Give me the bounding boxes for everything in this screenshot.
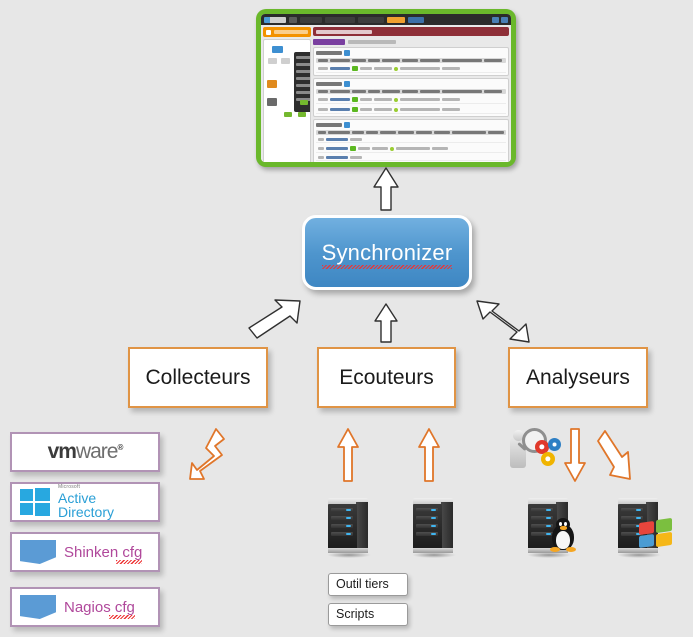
filter-label xyxy=(348,40,396,44)
dashboard-table-collecteur xyxy=(313,119,509,162)
arrow-analyseurs-sync xyxy=(474,298,532,344)
arrow-ecouteurs-push-2 xyxy=(416,427,442,483)
map-node xyxy=(300,100,308,105)
dashboard-panel-title xyxy=(313,27,509,36)
active-directory-text: Microsoft Active Directory xyxy=(58,485,150,519)
table-header-row xyxy=(316,58,506,63)
nagios-cfg-label-wrap: Nagios cfg xyxy=(64,599,135,616)
map-node xyxy=(272,46,283,53)
arrow-ecouteurs-to-sync xyxy=(372,303,400,343)
table-caption xyxy=(316,50,506,56)
table-header-row xyxy=(316,130,506,135)
table-caption xyxy=(316,81,506,87)
staging-label xyxy=(274,30,308,34)
topbar-item xyxy=(289,17,297,23)
server-rack-windows-icon xyxy=(615,498,661,558)
synchronizer-node[interactable]: Synchronizer xyxy=(302,215,472,290)
synchronizer-label: Synchronizer xyxy=(322,240,453,266)
server-rack-icon xyxy=(410,498,456,558)
map-node xyxy=(281,58,290,64)
server-rack-linux-icon xyxy=(525,498,571,558)
diagram-canvas: Synchronizer Collecteurs Ecouteurs Analy… xyxy=(0,0,693,637)
server-rack-icon xyxy=(325,498,371,558)
category-label-ecouteurs: Ecouteurs xyxy=(339,366,434,390)
source-box-vmware[interactable]: vmware® xyxy=(10,432,160,472)
topbar-icon xyxy=(501,17,508,23)
nagios-cfg-label: Nagios cfg xyxy=(64,599,135,616)
table-caption xyxy=(316,122,506,128)
topbar-item xyxy=(358,17,384,23)
active-directory-label: Active Directory xyxy=(58,491,150,519)
windows-flag-icon xyxy=(20,488,50,516)
dashboard-body xyxy=(261,25,511,162)
arrow-collecteurs-pull xyxy=(186,427,228,485)
dashboard-topbar xyxy=(261,14,511,25)
dashboard-table-ecouteur xyxy=(313,78,509,117)
topbar-item-highlight xyxy=(387,17,405,23)
table-header-row xyxy=(316,89,506,94)
config-file-icon xyxy=(20,540,56,564)
table-row xyxy=(316,65,506,73)
chip-scripts-label: Scripts xyxy=(336,607,374,621)
dashboard-staging-bar xyxy=(263,27,311,37)
chip-scripts[interactable]: Scripts xyxy=(328,603,408,626)
map-node xyxy=(267,98,277,106)
table-row xyxy=(316,137,506,143)
dashboard-topology-map xyxy=(263,39,311,162)
topbar-icon xyxy=(492,17,499,23)
arrow-ecouteurs-push-1 xyxy=(335,427,361,483)
category-label-collecteurs: Collecteurs xyxy=(145,366,250,390)
chip-outil-tiers[interactable]: Outil tiers xyxy=(328,573,408,596)
dashboard-filter-row xyxy=(313,38,509,45)
category-label-analyseurs: Analyseurs xyxy=(526,366,630,390)
gear-blue-icon xyxy=(548,438,561,451)
table-row xyxy=(316,96,506,104)
topbar-right-group xyxy=(492,17,508,23)
gear-yellow-icon xyxy=(541,452,555,466)
dashboard-left-column xyxy=(263,27,311,162)
spellcheck-underline xyxy=(109,615,135,619)
spellcheck-underline xyxy=(322,265,453,269)
windows-logo-icon xyxy=(639,518,673,548)
category-box-ecouteurs[interactable]: Ecouteurs xyxy=(317,347,456,408)
shinken-cfg-label-wrap: Shinken cfg xyxy=(64,544,142,561)
arrow-analyseurs-probe-2 xyxy=(596,427,636,483)
shinken-cfg-label: Shinken cfg xyxy=(64,544,142,561)
source-box-active-directory[interactable]: Microsoft Active Directory xyxy=(10,482,160,522)
map-node xyxy=(268,58,277,64)
vmware-prefix: vm xyxy=(48,440,76,463)
chip-outil-tiers-label: Outil tiers xyxy=(336,577,389,591)
table-row xyxy=(316,155,506,161)
vmware-logo-icon: vmware® xyxy=(48,440,123,464)
arrow-collecteurs-to-sync xyxy=(245,298,303,342)
map-node xyxy=(267,80,277,88)
topbar-item xyxy=(408,17,424,23)
dashboard-right-column xyxy=(313,27,509,162)
map-node xyxy=(298,112,306,117)
magnifier-gears-icon xyxy=(508,426,568,476)
source-box-shinken-cfg[interactable]: Shinken cfg xyxy=(10,532,160,572)
vmware-registered-mark: ® xyxy=(117,443,122,452)
source-box-nagios-cfg[interactable]: Nagios cfg xyxy=(10,587,160,627)
category-box-analyseurs[interactable]: Analyseurs xyxy=(508,347,648,408)
synchronizer-label-text: Synchronizer xyxy=(322,240,453,265)
config-file-icon xyxy=(20,595,56,619)
arrow-sync-to-dashboard xyxy=(371,167,401,211)
table-row xyxy=(316,106,506,114)
topbar-item xyxy=(300,17,322,23)
linux-penguin-icon xyxy=(549,518,577,552)
category-box-collecteurs[interactable]: Collecteurs xyxy=(128,347,268,408)
dashboard-screenshot-inner xyxy=(261,14,511,162)
dashboard-app-logo xyxy=(264,17,286,23)
vmware-suffix: ware xyxy=(76,440,118,463)
staging-icon xyxy=(266,30,271,35)
spellcheck-underline xyxy=(116,560,142,564)
arrow-analyseurs-probe-1 xyxy=(562,427,588,483)
map-node xyxy=(284,112,292,117)
dashboard-table-analyseur xyxy=(313,47,509,76)
filter-chip xyxy=(313,39,345,45)
table-row xyxy=(316,145,506,153)
topbar-item xyxy=(325,17,355,23)
dashboard-screenshot[interactable] xyxy=(256,9,516,167)
